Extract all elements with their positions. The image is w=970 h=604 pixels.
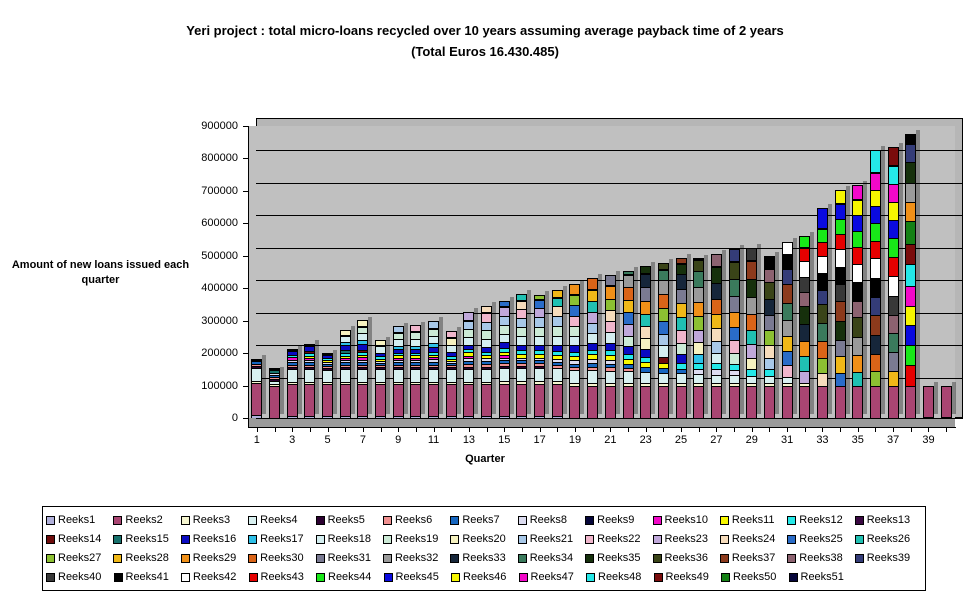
x-tick-mark [628,428,629,432]
legend-item-reeks50[interactable]: Reeks50 [721,568,789,587]
legend-item-reeks38[interactable]: Reeks38 [787,549,854,568]
bar-side-face [757,244,761,414]
bar-segment [693,342,704,354]
bar-segment [587,343,598,350]
legend-item-reeks44[interactable]: Reeks44 [316,568,384,587]
bar-segment [428,416,439,418]
bar-segment [799,236,810,248]
bar-segment [799,386,810,418]
x-tick-mark [716,428,717,432]
bar-segment [764,386,775,418]
legend-item-reeks46[interactable]: Reeks46 [451,568,519,587]
bar-segment [905,386,916,418]
bar-segment [888,386,899,418]
legend-item-reeks22[interactable]: Reeks22 [585,530,652,549]
legend-label: Reeks4 [260,515,297,526]
bar-segment [817,358,828,374]
bar-column[interactable] [304,344,315,418]
legend-swatch-icon [789,573,798,582]
bar-stack [782,242,793,418]
bar-segment [499,307,510,316]
bar-column[interactable] [569,284,580,418]
legend-item-reeks51[interactable]: Reeks51 [789,568,857,587]
bar-segment [516,336,527,344]
bar-column[interactable] [552,290,563,418]
bar-segment [729,340,740,353]
bar-segment [923,386,934,418]
bar-segment [516,309,527,318]
legend-item-reeks16[interactable]: Reeks16 [181,530,248,549]
bar-segment [693,302,704,316]
bar-segment [746,330,757,344]
x-tick-label: 39 [916,434,940,446]
legend-item-reeks18[interactable]: Reeks18 [316,530,383,549]
bar-segment [676,264,687,274]
bar-segment [516,368,527,381]
bar-segment [799,371,810,383]
bar-segment [623,300,634,312]
legend-label: Reeks51 [801,572,844,583]
bar-segment [640,372,651,383]
bar-column[interactable] [534,295,545,418]
x-tick-mark [345,428,346,432]
legend-item-reeks5[interactable]: Reeks5 [316,511,383,530]
legend-label: Reeks25 [799,534,842,545]
bar-segment [835,356,846,372]
bar-side-face [934,382,938,414]
bar-column[interactable] [905,134,916,418]
bar-stack [552,290,563,418]
legend-swatch-icon [720,535,729,544]
legend-item-reeks36[interactable]: Reeks36 [653,549,720,568]
legend-swatch-icon [316,535,325,544]
legend-item-reeks29[interactable]: Reeks29 [181,549,248,568]
bar-segment [835,301,846,320]
legend-item-reeks35[interactable]: Reeks35 [585,549,652,568]
bar-side-face [510,297,514,414]
legend-swatch-icon [249,573,258,582]
legend-row: Reeks40Reeks41Reeks42Reeks43Reeks44Reeks… [46,568,922,587]
bar-segment [340,416,351,418]
bar-column[interactable] [658,263,669,418]
bar-segment [516,327,527,336]
legend-swatch-icon [384,573,393,582]
bar-column[interactable] [251,359,262,418]
bar-segment [481,313,492,321]
legend-swatch-icon [181,535,190,544]
bar-segment [852,355,863,372]
legend-item-reeks27[interactable]: Reeks27 [46,549,113,568]
bar-segment [428,369,439,382]
x-tick-mark [699,428,700,432]
y-tick-label: 200000 [176,348,238,359]
bar-segment [711,267,722,283]
legend-item-reeks3[interactable]: Reeks3 [181,511,248,530]
bar-stack [534,295,545,418]
legend-swatch-icon [585,535,594,544]
bar-segment [658,280,669,294]
x-tick-mark [646,428,647,432]
bar-segment [640,338,651,349]
legend-swatch-icon [720,554,729,563]
bar-segment [623,312,634,324]
legend-swatch-icon [248,535,257,544]
legend-item-reeks2[interactable]: Reeks2 [113,511,180,530]
bar-segment [516,318,527,327]
x-tick-mark [610,428,611,432]
legend-item-reeks23[interactable]: Reeks23 [653,530,720,549]
legend-swatch-icon [585,554,594,563]
bar-segment [764,345,775,359]
bar-column[interactable] [287,349,298,418]
legend-item-reeks24[interactable]: Reeks24 [720,530,787,549]
bar-side-face [863,181,867,414]
x-tick-mark [540,428,541,432]
bar-segment [534,416,545,418]
plot-right-edge [962,118,963,419]
bar-segment [852,264,863,283]
legend-label: Reeks13 [867,515,910,526]
bar-segment [658,294,669,308]
legend-item-reeks8[interactable]: Reeks8 [518,511,585,530]
bar-column[interactable] [322,354,333,418]
legend-item-reeks41[interactable]: Reeks41 [114,568,182,587]
bar-column[interactable] [941,386,952,418]
bar-segment [587,301,598,312]
bar-segment [569,370,580,383]
legend-label: Reeks48 [598,572,641,583]
legend-item-reeks40[interactable]: Reeks40 [46,568,114,587]
bar-column[interactable] [393,327,404,418]
legend-item-reeks19[interactable]: Reeks19 [383,530,450,549]
bar-segment [693,330,704,342]
bar-side-face [616,271,620,414]
bar-side-face [846,186,850,414]
bar-segment [905,134,916,144]
bar-segment [870,354,881,372]
legend-label: Reeks32 [395,553,438,564]
legend-item-reeks42[interactable]: Reeks42 [181,568,249,587]
bar-column[interactable] [516,294,527,418]
bar-segment [693,374,704,383]
bar-column[interactable] [764,256,775,418]
legend-item-reeks4[interactable]: Reeks4 [248,511,315,530]
bar-stack [764,256,775,418]
bar-side-face [368,317,372,414]
bar-segment [658,373,669,383]
bar-segment [463,337,474,345]
bar-segment [729,312,740,327]
x-axis-title: Quarter [0,453,970,465]
bar-segment [322,370,333,382]
bar-segment [888,276,899,296]
bar-column[interactable] [817,208,828,418]
bar-segment [782,336,793,351]
legend-item-reeks11[interactable]: Reeks11 [720,511,787,530]
bar-segment [817,373,828,385]
bar-column[interactable] [269,371,280,418]
bar-column[interactable] [446,331,457,418]
bar-column[interactable] [782,242,793,418]
bar-side-face [298,345,302,414]
bar-segment [605,332,616,342]
legend-swatch-icon [451,573,460,582]
bar-segment [463,384,474,416]
legend-item-reeks10[interactable]: Reeks10 [653,511,720,530]
bar-segment [711,341,722,353]
legend-swatch-icon [518,554,527,563]
bar-segment [552,316,563,326]
bar-segment [870,335,881,354]
legend-item-reeks33[interactable]: Reeks33 [450,549,517,568]
legend-label: Reeks1 [58,515,95,526]
bar-segment [552,384,563,416]
bar-column[interactable] [587,278,598,418]
legend-swatch-icon [316,516,325,525]
legend-item-reeks13[interactable]: Reeks13 [855,511,922,530]
legend-item-reeks26[interactable]: Reeks26 [855,530,922,549]
x-tick-mark [434,428,435,432]
bar-segment [393,369,404,382]
bar-segment [623,336,634,346]
x-tick-label: 29 [740,434,764,446]
bar-segment [835,190,846,204]
bar-segment [446,331,457,338]
bar-segment [676,373,687,383]
x-tick-mark [257,428,258,432]
legend-item-reeks48[interactable]: Reeks48 [586,568,654,587]
bar-segment [516,416,527,418]
bar-segment [658,345,669,357]
x-tick-mark [681,428,682,432]
bar-segment [799,261,810,277]
bar-segment [870,190,881,206]
bar-column[interactable] [340,330,351,418]
legend-label: Reeks24 [732,534,775,545]
legend-swatch-icon [114,573,123,582]
legend-item-reeks14[interactable]: Reeks14 [46,530,113,549]
bar-segment [888,184,899,202]
bar-segment [516,294,527,301]
bar-stack [446,331,457,418]
bar-segment [499,416,510,418]
bar-segment [870,258,881,277]
bar-segment [746,261,757,279]
bar-segment [941,386,952,418]
legend-item-reeks37[interactable]: Reeks37 [720,549,787,568]
bar-column[interactable] [410,326,421,418]
legend-item-reeks9[interactable]: Reeks9 [585,511,652,530]
legend-label: Reeks46 [463,572,506,583]
bar-segment [251,415,262,418]
bar-side-face [351,326,355,414]
legend-item-reeks15[interactable]: Reeks15 [113,530,180,549]
legend-item-reeks31[interactable]: Reeks31 [316,549,383,568]
bar-column[interactable] [463,312,474,418]
bar-column[interactable] [870,150,881,418]
bar-side-face [634,267,638,414]
legend-item-reeks20[interactable]: Reeks20 [450,530,517,549]
bar-side-face [793,238,797,414]
bar-stack [729,249,740,418]
bar-segment [729,296,740,312]
legend-item-reeks43[interactable]: Reeks43 [249,568,317,587]
bar-segment [729,386,740,418]
legend-swatch-icon [586,573,595,582]
x-tick-mark [805,428,806,432]
bar-segment [640,349,651,357]
bar-column[interactable] [676,258,687,418]
bar-segment [534,308,545,318]
legend-swatch-icon [46,554,55,563]
bar-column[interactable] [852,185,863,418]
y-tick-label: 900000 [176,121,238,132]
legend-label: Reeks36 [665,553,708,564]
legend-item-reeks25[interactable]: Reeks25 [787,530,854,549]
legend-label: Reeks14 [58,534,101,545]
legend-item-reeks17[interactable]: Reeks17 [248,530,315,549]
legend-item-reeks39[interactable]: Reeks39 [855,549,922,568]
legend-swatch-icon [383,554,392,563]
bar-segment [852,282,863,300]
bar-side-face [439,317,443,414]
bar-segment [782,284,793,303]
bar-column[interactable] [499,301,510,418]
bar-segment [463,329,474,337]
bar-segment [852,215,863,231]
bar-segment [905,306,916,325]
legend-item-reeks7[interactable]: Reeks7 [450,511,517,530]
legend-item-reeks12[interactable]: Reeks12 [787,511,854,530]
bar-column[interactable] [711,254,722,418]
bar-segment [870,223,881,241]
bar-segment [746,386,757,418]
legend-label: Reeks43 [261,572,304,583]
bar-segment [587,323,598,333]
bar-column[interactable] [605,275,616,418]
bar-segment [410,416,421,418]
bar-segment [481,384,492,416]
bar-column[interactable] [693,259,704,418]
bar-segment [569,326,580,336]
plot-region: 0100000200000300000400000500000600000700… [0,0,970,490]
bar-segment [693,287,704,302]
bar-column[interactable] [799,236,810,418]
bar-column[interactable] [357,321,368,418]
x-axis-line [248,427,956,428]
bar-stack [357,320,368,418]
bar-stack [693,258,704,418]
bar-segment [481,416,492,418]
bar-side-face [386,337,390,414]
bar-segment [870,297,881,315]
bar-column[interactable] [481,306,492,418]
legend-label: Reeks50 [733,572,776,583]
y-tick-label: 400000 [176,283,238,294]
legend-item-reeks30[interactable]: Reeks30 [248,549,315,568]
legend-item-reeks49[interactable]: Reeks49 [654,568,722,587]
legend-item-reeks47[interactable]: Reeks47 [519,568,587,587]
bar-segment [888,371,899,386]
x-tick-label: 9 [386,434,410,446]
x-tick-mark [416,428,417,432]
bar-column[interactable] [623,271,634,418]
bar-column[interactable] [729,249,740,418]
bar-segment [870,371,881,385]
bar-segment [481,330,492,338]
bar-column[interactable] [375,341,386,418]
bar-segment [764,330,775,344]
legend-item-reeks1[interactable]: Reeks1 [46,511,113,530]
bar-stack [746,248,757,418]
bar-column[interactable] [428,321,439,418]
legend-swatch-icon [653,535,662,544]
bar-column[interactable] [640,266,651,418]
bar-segment [605,321,616,332]
bar-column[interactable] [888,147,899,418]
bar-segment [693,271,704,287]
legend-label: Reeks39 [867,553,910,564]
bar-segment [640,301,651,314]
legend-label: Reeks3 [193,515,230,526]
bar-segment [623,275,634,287]
legend-item-reeks6[interactable]: Reeks6 [383,511,450,530]
bar-segment [817,304,828,323]
legend-item-reeks32[interactable]: Reeks32 [383,549,450,568]
bar-segment [499,316,510,325]
bar-segment [676,330,687,342]
legend-swatch-icon [450,516,459,525]
legend-item-reeks34[interactable]: Reeks34 [518,549,585,568]
x-tick-mark [487,428,488,432]
legend-label: Reeks41 [126,572,169,583]
bar-segment [463,416,474,418]
bar-segment [357,384,368,416]
legend-label: Reeks18 [328,534,371,545]
legend-swatch-icon [248,554,257,563]
legend-item-reeks45[interactable]: Reeks45 [384,568,452,587]
x-tick-mark [663,428,664,432]
x-tick-label: 27 [704,434,728,446]
legend-swatch-icon [383,535,392,544]
bar-segment [711,353,722,363]
x-tick-mark [822,428,823,432]
bar-segment [888,352,899,370]
legend-item-reeks28[interactable]: Reeks28 [113,549,180,568]
bar-column[interactable] [923,386,934,418]
bar-segment [623,287,634,300]
legend-label: Reeks31 [328,553,371,564]
bar-segment [534,368,545,381]
legend-label: Reeks6 [395,515,432,526]
legend-item-reeks21[interactable]: Reeks21 [518,530,585,549]
bar-side-face [333,350,337,414]
bar-column[interactable] [835,190,846,418]
bar-segment [534,300,545,308]
bar-segment [569,336,580,346]
bar-side-face [899,143,903,414]
bar-segment [569,284,580,295]
bar-segment [746,358,757,369]
bar-column[interactable] [746,248,757,418]
bar-segment [835,204,846,219]
bar-side-face [262,355,266,414]
legend-swatch-icon [383,516,392,525]
bar-segment [658,334,669,346]
bar-segment [428,329,439,336]
bar-segment [552,326,563,336]
bar-segment [764,269,775,282]
